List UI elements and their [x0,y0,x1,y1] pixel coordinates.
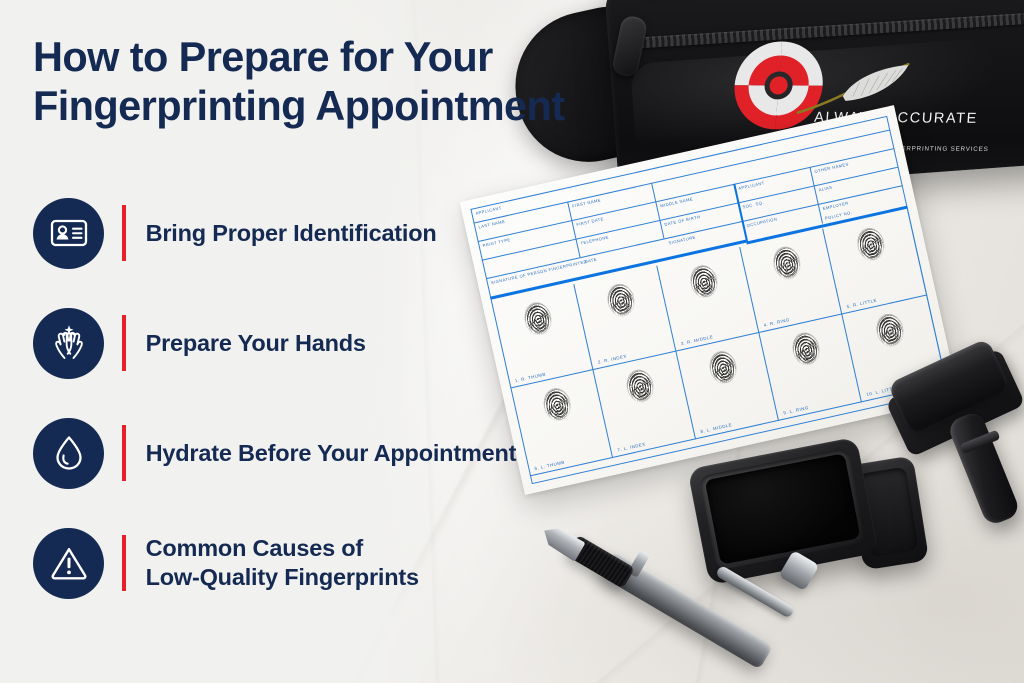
checklist-item-low-quality[interactable]: Common Causes of Low-Quality Fingerprint… [33,508,553,618]
page-title: How to Prepare for Your Fingerprinting A… [33,33,633,130]
accent-bar [122,535,126,591]
checklist-label-line2: Low-Quality Fingerprints [146,564,419,590]
accent-bar [122,315,126,371]
roller-handle [946,410,1021,527]
clean-hands-badge [33,308,104,379]
id-card-icon [49,213,89,253]
fingerprint-image [786,327,826,373]
fingerprint-image [870,308,910,354]
fingerprint-image [703,346,743,392]
fingerprint-image [851,222,891,268]
card-field: DATE OF BIRTH [664,214,701,227]
fingerprint-image [767,241,807,287]
fingerprint-label: 9. L. RING [783,405,809,415]
fingerprint-image [601,278,641,324]
card-field: MIDDLE NAME [660,196,694,208]
checklist-item-identification[interactable]: Bring Proper Identification [33,178,553,288]
checklist-item-hydrate[interactable]: Hydrate Before Your Appointment [33,398,553,508]
infographic-canvas: ALWAYS ACCURATE NOTARY MOBILE NOTARY & F… [0,0,1024,683]
warning-triangle-icon [48,542,90,584]
fingerprint-image [620,364,660,410]
fingerprint-image [684,260,724,306]
card-field: ALIAS [818,185,833,193]
ballpoint-pen [540,508,820,658]
fingerprint-label: 8. L. MIDDLE [700,422,733,434]
water-drop-badge [33,418,104,489]
clean-hands-icon [48,322,90,364]
card-field: OTHER NAMES [814,161,849,174]
warning-triangle-badge [33,528,104,599]
checklist: Bring Proper Identification [33,178,553,618]
checklist-label: Hydrate Before Your Appointment [146,439,517,468]
water-drop-icon [49,433,89,473]
page-title-line1: How to Prepare for Your [33,33,493,80]
checklist-item-hands[interactable]: Prepare Your Hands [33,288,553,398]
checklist-label: Common Causes of Low-Quality Fingerprint… [146,534,419,592]
id-card-badge [33,198,104,269]
accent-bar [122,425,126,481]
pen-end-cap [778,550,819,591]
accent-bar [122,205,126,261]
fingerprint-label: 7. L. INDEX [617,441,646,452]
checklist-label: Prepare Your Hands [146,329,366,358]
checklist-label: Bring Proper Identification [146,219,437,248]
page-title-line2: Fingerprinting Appointment [33,82,633,131]
checklist-label-line1: Common Causes of [146,535,363,561]
